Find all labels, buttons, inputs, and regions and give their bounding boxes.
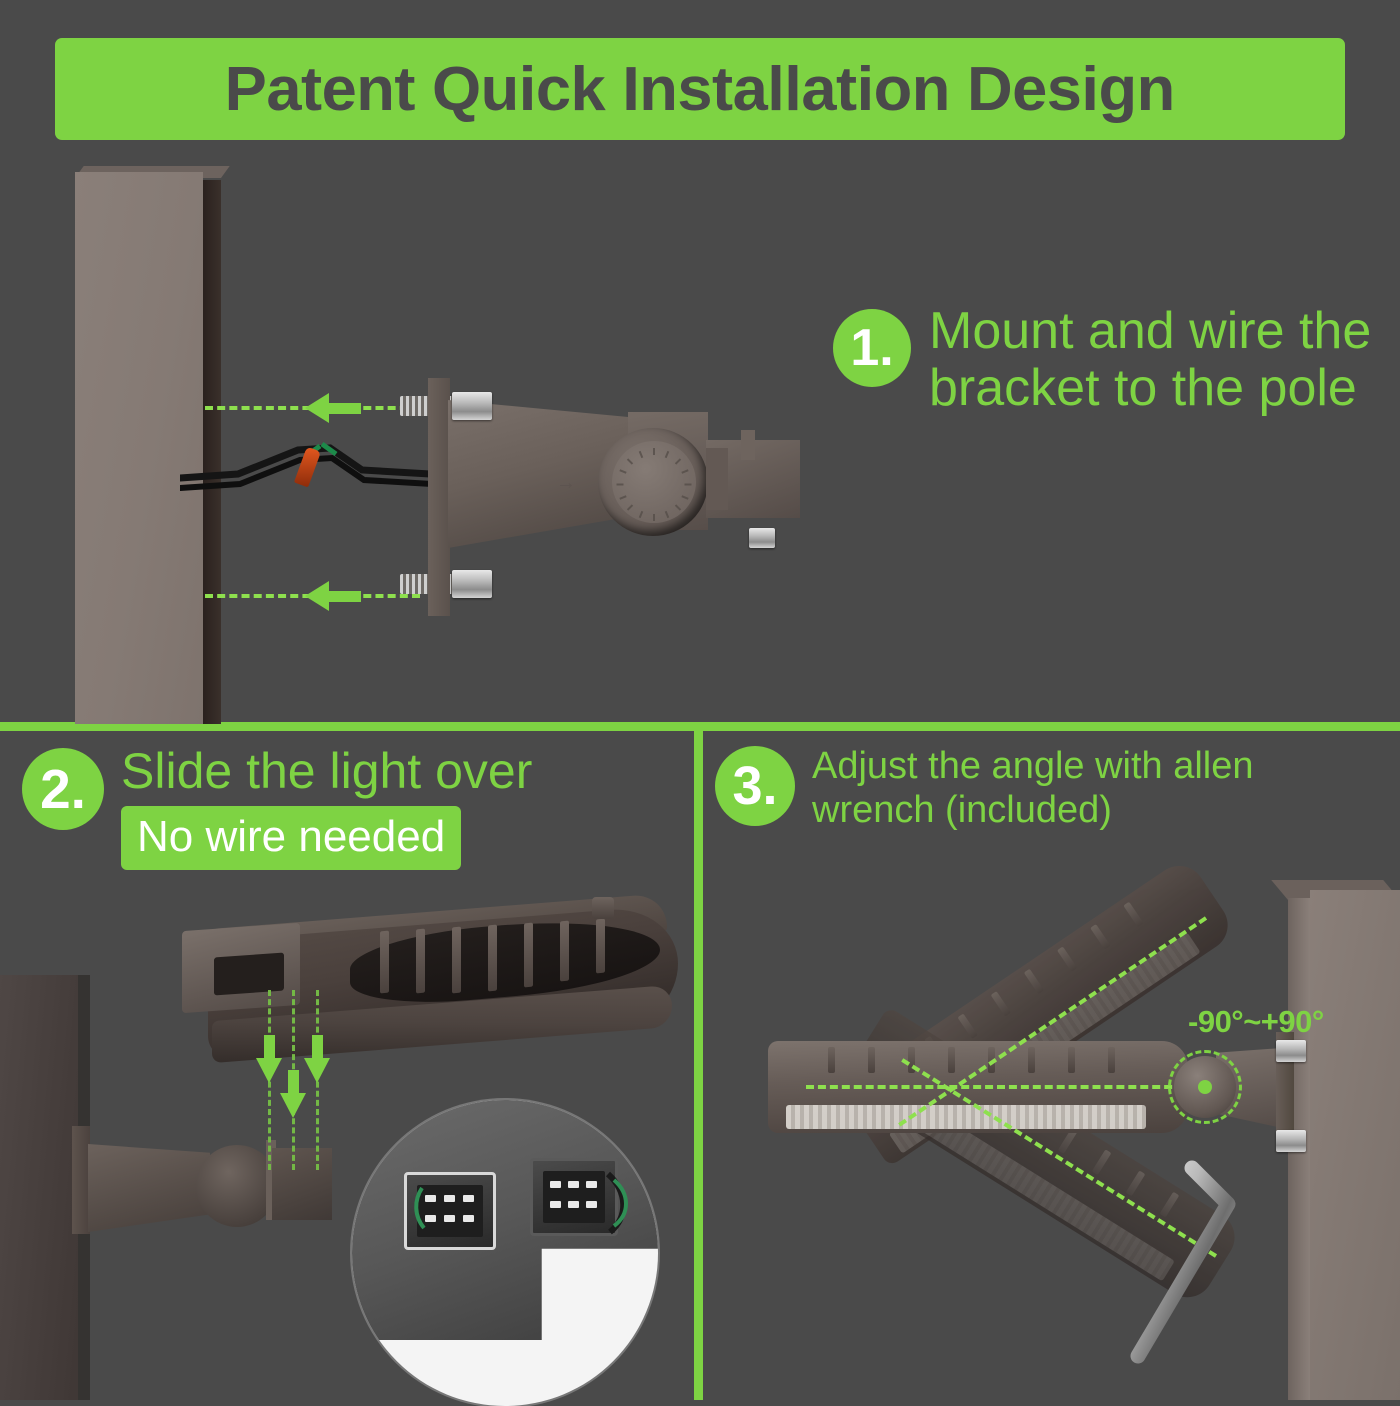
step-2-line-1: Slide the light over bbox=[121, 744, 532, 798]
page-title: Patent Quick Installation Design bbox=[225, 54, 1175, 125]
arrow-down-icon bbox=[304, 1058, 330, 1083]
heatsink-fin bbox=[560, 921, 569, 982]
dial-tick bbox=[639, 511, 644, 518]
dial-tick bbox=[617, 484, 624, 486]
bolt-icon bbox=[749, 528, 775, 548]
fixture-slide-slot bbox=[214, 953, 284, 996]
direction-arrow-emboss: → bbox=[556, 477, 598, 489]
heatsink-fin bbox=[452, 927, 461, 994]
bolt-icon bbox=[452, 392, 492, 420]
step-3-line-2: wrench (included) bbox=[812, 788, 1254, 832]
dial-tick bbox=[665, 450, 670, 457]
fixture-photocell-knob bbox=[592, 897, 614, 919]
dial-tick bbox=[627, 458, 633, 464]
arrow-left-icon bbox=[305, 393, 329, 423]
bracket-mounting-plate bbox=[428, 378, 450, 616]
heatsink-fin bbox=[524, 923, 533, 988]
no-wire-needed-badge: No wire needed bbox=[121, 806, 461, 870]
pivot-center-dot bbox=[1198, 1080, 1212, 1094]
bracket-mounting-plate bbox=[72, 1126, 90, 1234]
step-3-text: Adjust the angle with allen wrench (incl… bbox=[812, 744, 1254, 832]
step-1-line-1: Mount and wire the bbox=[929, 303, 1371, 360]
arrow-left-tail bbox=[329, 403, 361, 414]
step-1-badge: 1. bbox=[833, 309, 911, 387]
dial-tick bbox=[675, 458, 681, 464]
allen-wrench-icon bbox=[1120, 1150, 1340, 1380]
step-2-badge: 2. bbox=[22, 748, 104, 830]
step-2-header: 2. Slide the light over No wire needed bbox=[22, 744, 532, 870]
step-3-line-1: Adjust the angle with allen bbox=[812, 744, 1254, 788]
arrow-down-icon bbox=[256, 1058, 282, 1083]
title-banner: Patent Quick Installation Design bbox=[55, 38, 1345, 140]
arrow-left-tail bbox=[329, 591, 361, 602]
angle-range-label: -90°~+90° bbox=[1188, 1004, 1324, 1040]
dial-tick bbox=[653, 514, 655, 521]
step-3-header: 3. Adjust the angle with allen wrench (i… bbox=[715, 744, 1254, 832]
led-lens bbox=[786, 1105, 1146, 1129]
heatsink-fin bbox=[596, 919, 605, 974]
bracket-head-lip bbox=[706, 448, 728, 510]
step-1-header: 1. Mount and wire the bracket to the pol… bbox=[833, 303, 1371, 417]
step-1-text: Mount and wire the bracket to the pole bbox=[929, 303, 1371, 417]
dial-tick bbox=[682, 495, 689, 500]
arrow-down-icon bbox=[280, 1093, 306, 1118]
heatsink-fin bbox=[488, 925, 497, 992]
connector-callout-circle bbox=[352, 1100, 658, 1406]
bolt-icon bbox=[1276, 1040, 1306, 1062]
dial-tick bbox=[627, 505, 633, 511]
step-2-text: Slide the light over No wire needed bbox=[121, 744, 532, 870]
angle-dial-inner bbox=[612, 441, 696, 523]
dial-tick bbox=[653, 448, 655, 455]
dial-tick bbox=[619, 470, 626, 475]
bolt-icon bbox=[452, 570, 492, 598]
dial-tick bbox=[685, 484, 692, 486]
heatsink-fin bbox=[416, 929, 425, 994]
bracket-head-tab bbox=[741, 430, 755, 460]
dial-tick bbox=[682, 470, 689, 475]
step-1-line-2: bracket to the pole bbox=[929, 360, 1371, 417]
arrow-left-icon bbox=[305, 581, 329, 611]
heatsink-fin bbox=[380, 931, 389, 994]
axis-dash-level bbox=[806, 1085, 1196, 1089]
bracket-head bbox=[272, 1148, 332, 1220]
step-3-badge: 3. bbox=[715, 746, 795, 826]
bolt-icon bbox=[1276, 1130, 1306, 1152]
dial-tick bbox=[665, 511, 670, 518]
dial-tick bbox=[639, 450, 644, 457]
connector-lead-wires bbox=[352, 1100, 658, 1406]
dial-tick bbox=[619, 495, 626, 500]
led-fixture-illustration bbox=[168, 895, 690, 1080]
dial-tick bbox=[675, 505, 681, 511]
panel-divider-vertical bbox=[694, 722, 703, 1400]
